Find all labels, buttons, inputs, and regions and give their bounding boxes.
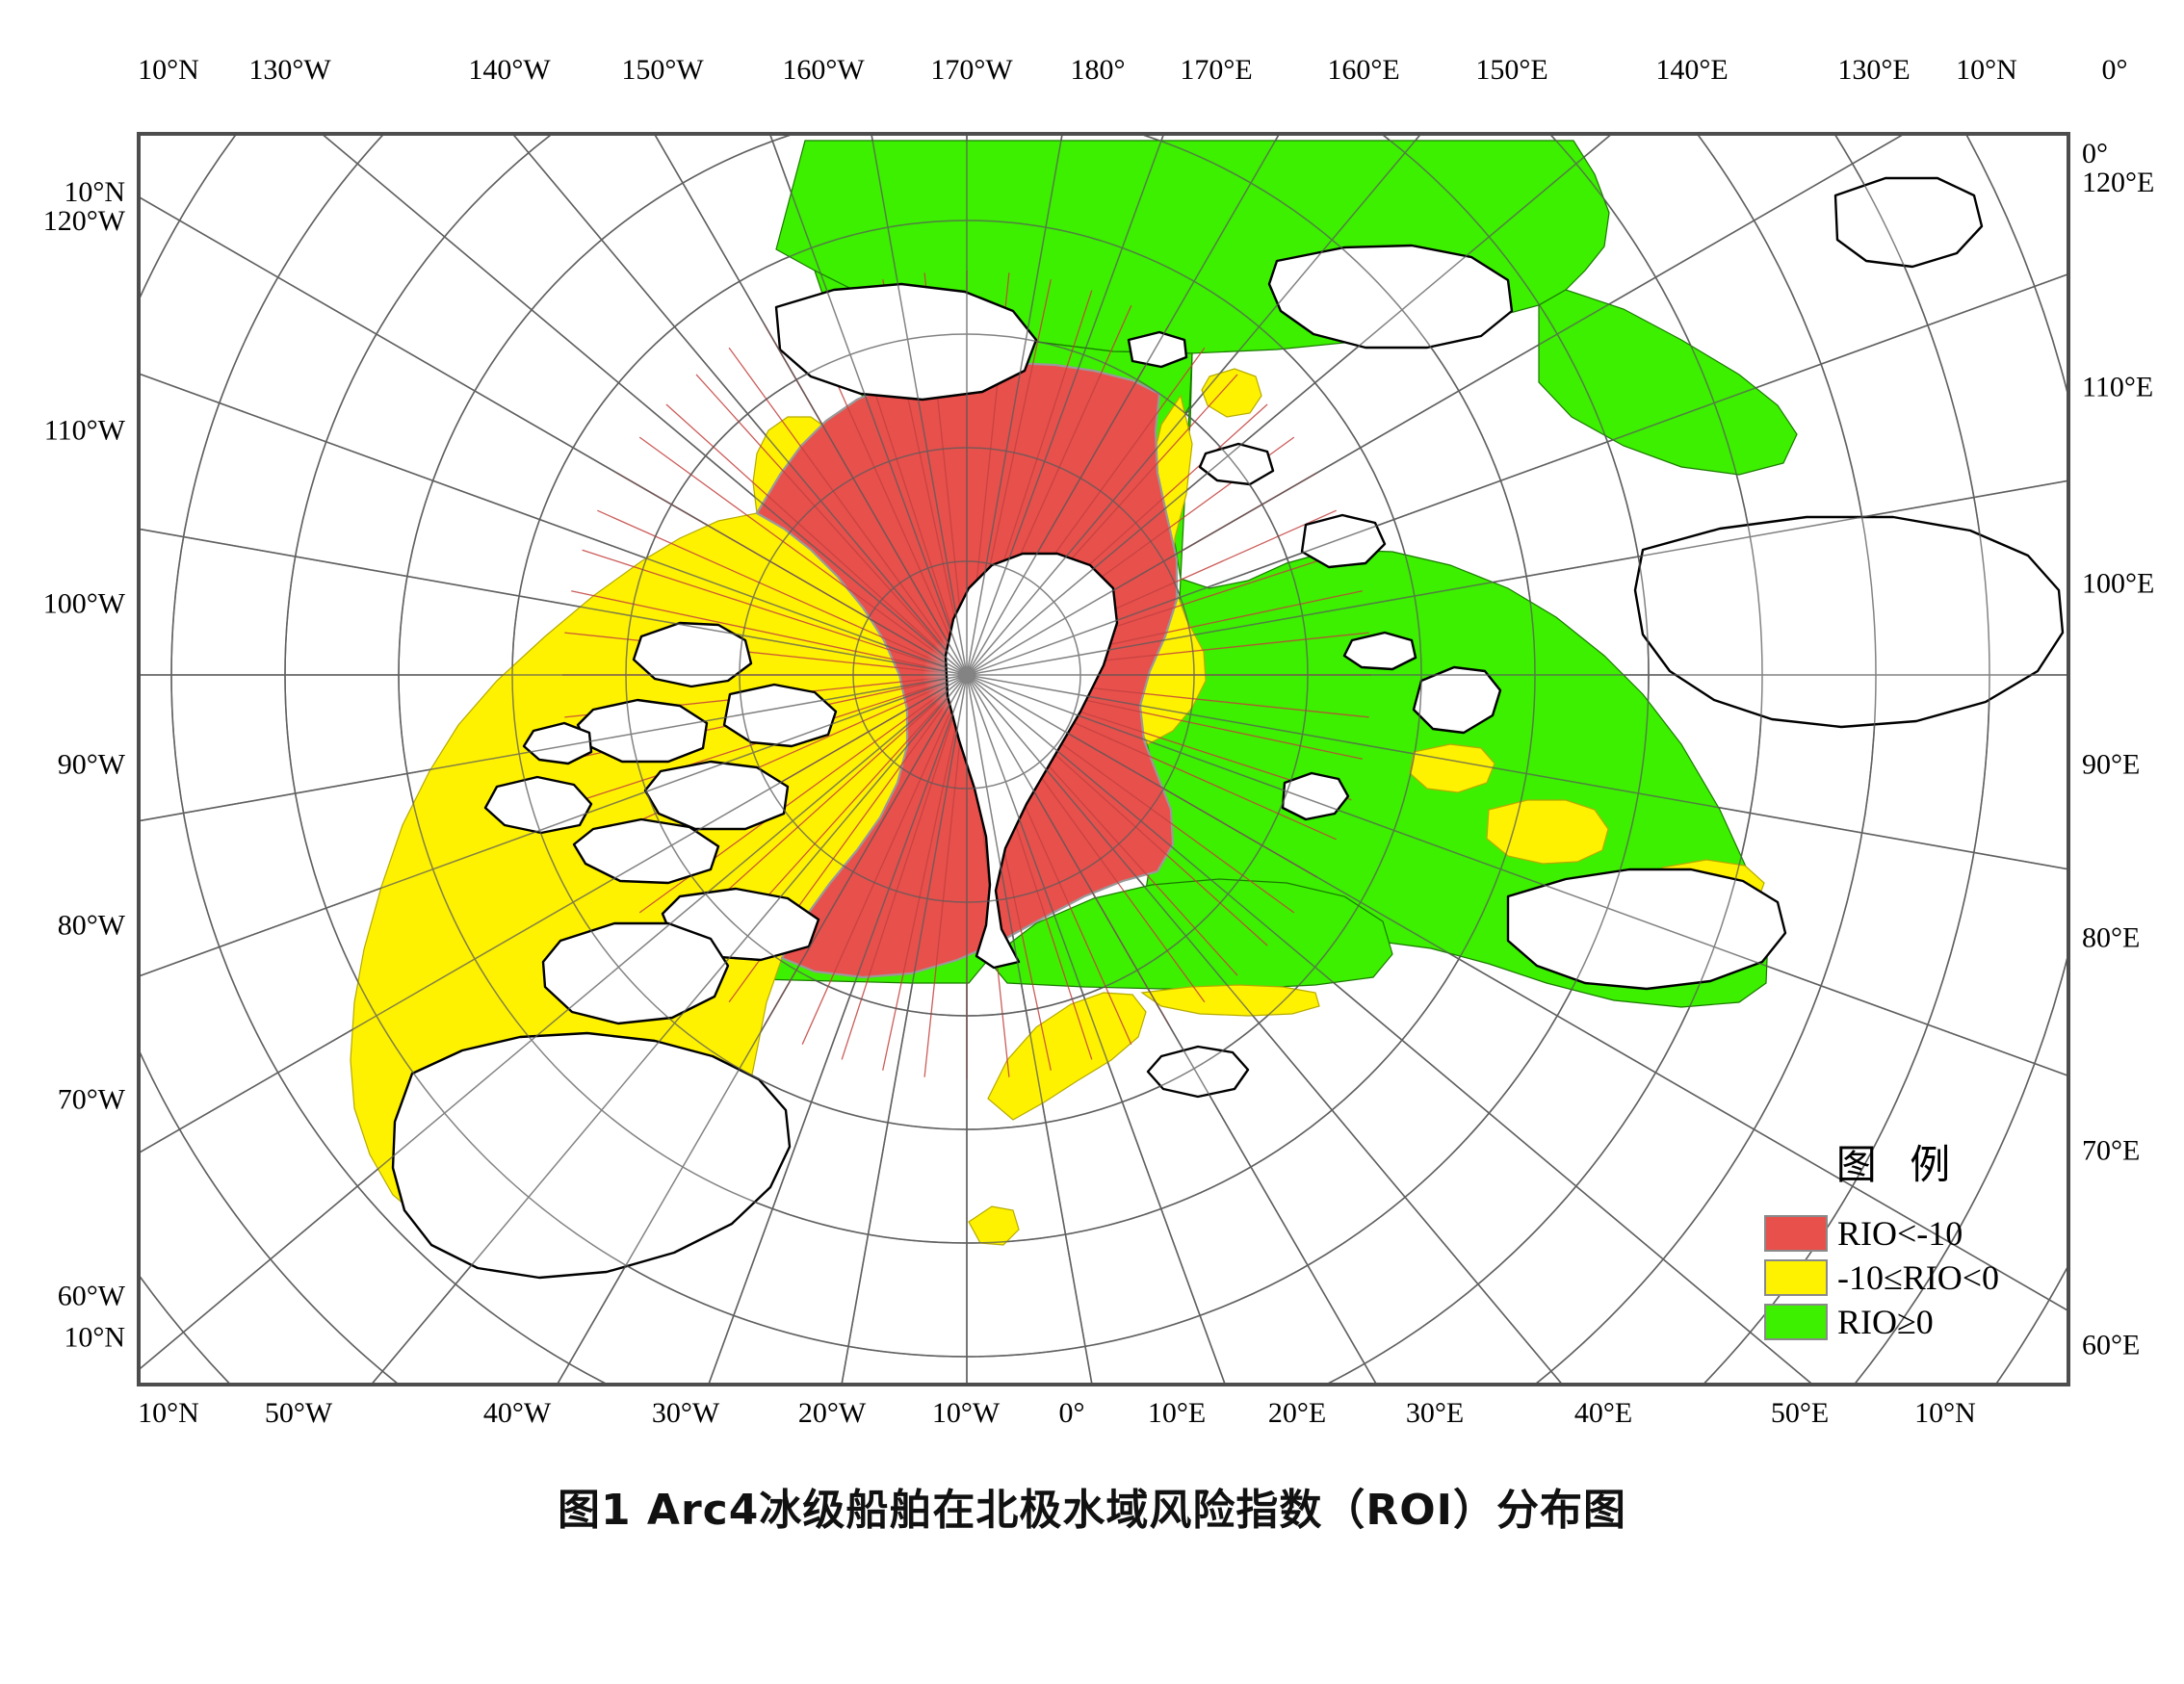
axis-tick-right-6: 70°E (2082, 1137, 2140, 1167)
axis-tick-bottom-1: 50°W (265, 1399, 332, 1429)
axis-tick-top-2: 140°W (468, 56, 550, 86)
axis-tick-bottom-7: 10°E (1148, 1399, 1206, 1429)
axis-tick-top-7: 170°E (1180, 56, 1252, 86)
axis-tick-bottom-5: 10°W (932, 1399, 1000, 1429)
legend-item-rio-gte-0[interactable]: RIO≥0 (1764, 1301, 2024, 1343)
legend-swatch-yellow (1764, 1259, 1828, 1296)
axis-tick-top-5: 170°W (930, 56, 1012, 86)
figure-root: 10°N 130°W 140°W 150°W 160°W 170°W 180° … (0, 0, 2184, 1684)
axis-tick-bottom-12: 10°N (1914, 1399, 1976, 1429)
legend-label-red: RIO<-10 (1837, 1213, 1963, 1254)
axis-tick-right-4: 90°E (2082, 751, 2140, 781)
axis-tick-bottom-2: 40°W (483, 1399, 551, 1429)
axis-tick-left-2: 110°W (44, 417, 125, 447)
legend-item-rio-neg10-to-0[interactable]: -10≤RIO<0 (1764, 1257, 2024, 1299)
axis-tick-bottom-10: 40°E (1574, 1399, 1632, 1429)
axis-tick-top-6: 180° (1071, 56, 1126, 86)
axis-tick-right-0: 0° (2082, 140, 2154, 168)
axis-tick-top-11: 130°E (1837, 56, 1910, 86)
axis-tick-right-0-1: 0° 120°E (2082, 140, 2154, 197)
axis-tick-top-10: 140°E (1655, 56, 1728, 86)
axis-tick-left-7: 60°W (58, 1282, 125, 1312)
axis-tick-bottom-11: 50°E (1771, 1399, 1829, 1429)
axis-tick-bottom-4: 20°W (798, 1399, 866, 1429)
axis-tick-top-4: 160°W (782, 56, 864, 86)
axis-tick-left-4: 90°W (58, 751, 125, 781)
axis-tick-left-0: 10°N (43, 178, 125, 207)
map-legend: 图 例 RIO<-10 -10≤RIO<0 RIO≥0 (1764, 1132, 2024, 1345)
legend-swatch-red (1764, 1215, 1828, 1252)
axis-tick-bottom-6: 0° (1059, 1399, 1085, 1429)
axis-tick-top-8: 160°E (1327, 56, 1399, 86)
axis-tick-top-1: 130°W (248, 56, 330, 86)
axis-tick-bottom-9: 30°E (1406, 1399, 1464, 1429)
axis-tick-top-9: 150°E (1475, 56, 1547, 86)
legend-label-green: RIO≥0 (1837, 1302, 1934, 1342)
axis-tick-left-0-1: 10°N 120°W (43, 178, 125, 236)
axis-tick-top-0: 10°N (138, 56, 199, 86)
axis-tick-right-5: 80°E (2082, 924, 2140, 954)
axis-tick-bottom-3: 30°W (652, 1399, 719, 1429)
axis-tick-top-3: 150°W (621, 56, 703, 86)
figure-caption: 图1 Arc4冰级船舶在北极水域风险指数（ROI）分布图 (0, 1475, 2184, 1537)
axis-tick-bottom-0: 10°N (138, 1399, 199, 1429)
legend-swatch-green (1764, 1304, 1828, 1340)
axis-tick-bottom-8: 20°E (1268, 1399, 1326, 1429)
legend-label-yellow: -10≤RIO<0 (1837, 1257, 1999, 1298)
axis-tick-top-13: 0° (2102, 56, 2128, 86)
axis-tick-left-1: 120°W (43, 207, 125, 236)
axis-tick-left-5: 80°W (58, 912, 125, 942)
axis-tick-left-8: 10°N (64, 1324, 125, 1354)
axis-tick-right-3: 100°E (2082, 570, 2154, 600)
axis-tick-left-3: 100°W (43, 590, 125, 620)
axis-tick-right-7: 60°E (2082, 1332, 2140, 1361)
legend-title: 图 例 (1764, 1132, 2024, 1191)
axis-tick-right-2: 110°E (2082, 374, 2153, 403)
axis-tick-right-1: 120°E (2082, 168, 2154, 197)
axis-tick-left-6: 70°W (58, 1086, 125, 1116)
axis-tick-top-12: 10°N (1956, 56, 2017, 86)
legend-item-rio-lt-neg10[interactable]: RIO<-10 (1764, 1212, 2024, 1255)
